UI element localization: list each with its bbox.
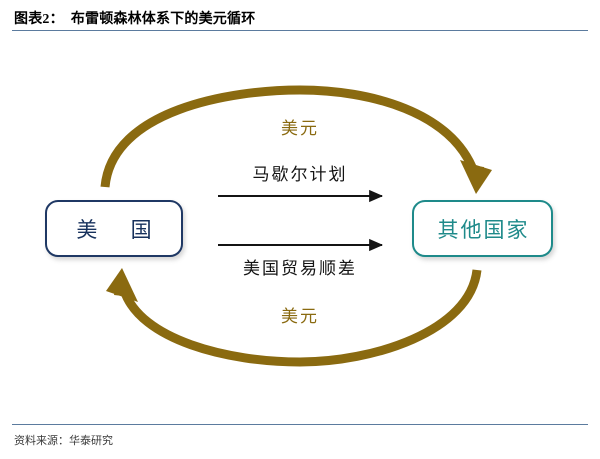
figure-number-label: 图表2： bbox=[14, 12, 64, 27]
edge-label-usd-top: 美元 bbox=[0, 114, 600, 139]
edge-label-trade-surplus: 美国贸易顺差 bbox=[0, 254, 600, 279]
header-divider bbox=[12, 30, 588, 31]
footer-divider bbox=[12, 424, 588, 425]
page-title: 图表2：布雷顿森林体系下的美元循环 bbox=[14, 8, 255, 28]
source-note: 资料来源：华泰研究 bbox=[14, 432, 113, 448]
figure-title-text: 布雷顿森林体系下的美元循环 bbox=[71, 12, 256, 27]
edge-label-usd-bottom: 美元 bbox=[0, 302, 600, 327]
node-united-states-label: 美 国 bbox=[62, 214, 165, 244]
node-united-states[interactable]: 美 国 bbox=[45, 200, 183, 257]
figure-header: 图表2：布雷顿森林体系下的美元循环 bbox=[0, 0, 600, 32]
node-other-countries-label: 其他国家 bbox=[436, 214, 530, 244]
diagram-canvas: 美 国 其他国家 美元 马歇尔计划 美国贸易顺差 美元 bbox=[0, 32, 600, 424]
edge-label-marshall-plan: 马歇尔计划 bbox=[0, 160, 600, 185]
node-other-countries[interactable]: 其他国家 bbox=[412, 200, 553, 257]
